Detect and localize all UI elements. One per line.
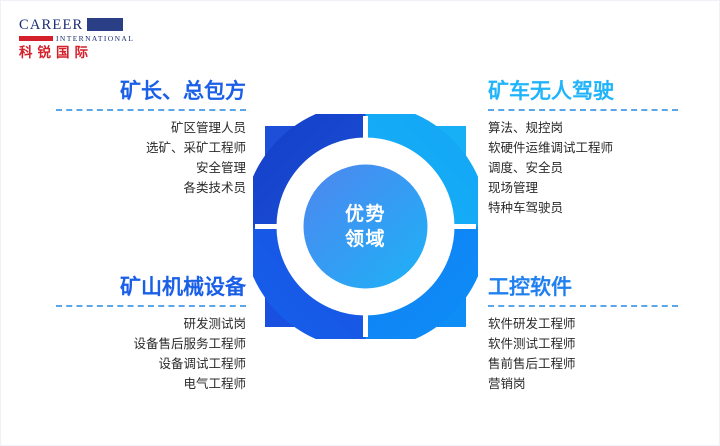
logo-top-row: CAREER bbox=[19, 18, 137, 33]
slide-canvas: CAREER INTERNATIONAL 科锐国际 bbox=[0, 0, 720, 446]
list-item: 特种车驾驶员 bbox=[488, 198, 678, 218]
list-item: 营销岗 bbox=[488, 374, 678, 394]
advantage-donut-chart: 优势 领域 bbox=[253, 114, 478, 339]
logo-career-text: CAREER bbox=[19, 18, 83, 33]
list-item: 现场管理 bbox=[488, 178, 678, 198]
category-items-top-right: 算法、规控岗 软硬件运维调试工程师 调度、安全员 现场管理 特种车驾驶员 bbox=[488, 118, 678, 218]
category-block-top-left: 矿长、总包方 矿区管理人员 选矿、采矿工程师 安全管理 各类技术员 bbox=[56, 79, 246, 198]
category-heading-bottom-right: 工控软件 bbox=[488, 275, 678, 301]
category-items-bottom-left: 研发测试岗 设备售后服务工程师 设备调试工程师 电气工程师 bbox=[56, 314, 246, 394]
donut-center-disc bbox=[304, 165, 428, 289]
list-item: 软件测试工程师 bbox=[488, 334, 678, 354]
list-item: 软硬件运维调试工程师 bbox=[488, 138, 678, 158]
list-item: 调度、安全员 bbox=[488, 158, 678, 178]
list-item: 算法、规控岗 bbox=[488, 118, 678, 138]
list-item: 软件研发工程师 bbox=[488, 314, 678, 334]
category-items-top-left: 矿区管理人员 选矿、采矿工程师 安全管理 各类技术员 bbox=[56, 118, 246, 198]
category-divider-top-left bbox=[56, 109, 246, 111]
logo-chinese-name: 科锐国际 bbox=[19, 45, 137, 60]
category-heading-top-right: 矿车无人驾驶 bbox=[488, 79, 678, 105]
list-item: 电气工程师 bbox=[56, 374, 246, 394]
list-item: 安全管理 bbox=[56, 158, 246, 178]
logo-blue-block-icon bbox=[87, 18, 123, 31]
logo-red-bar-icon bbox=[19, 36, 53, 41]
list-item: 选矿、采矿工程师 bbox=[56, 138, 246, 158]
list-item: 各类技术员 bbox=[56, 178, 246, 198]
logo-international-text: INTERNATIONAL bbox=[56, 34, 134, 43]
list-item: 研发测试岗 bbox=[56, 314, 246, 334]
list-item: 设备调试工程师 bbox=[56, 354, 246, 374]
category-heading-top-left: 矿长、总包方 bbox=[56, 79, 246, 105]
list-item: 售前售后工程师 bbox=[488, 354, 678, 374]
category-divider-top-right bbox=[488, 109, 678, 111]
category-block-bottom-right: 工控软件 软件研发工程师 软件测试工程师 售前售后工程师 营销岗 bbox=[488, 275, 678, 394]
list-item: 设备售后服务工程师 bbox=[56, 334, 246, 354]
category-block-top-right: 矿车无人驾驶 算法、规控岗 软硬件运维调试工程师 调度、安全员 现场管理 特种车… bbox=[488, 79, 678, 218]
category-items-bottom-right: 软件研发工程师 软件测试工程师 售前售后工程师 营销岗 bbox=[488, 314, 678, 394]
category-divider-bottom-left bbox=[56, 305, 246, 307]
category-divider-bottom-right bbox=[488, 305, 678, 307]
logo-middle-row: INTERNATIONAL bbox=[19, 34, 137, 43]
list-item: 矿区管理人员 bbox=[56, 118, 246, 138]
company-logo: CAREER INTERNATIONAL 科锐国际 bbox=[19, 18, 137, 58]
category-block-bottom-left: 矿山机械设备 研发测试岗 设备售后服务工程师 设备调试工程师 电气工程师 bbox=[56, 275, 246, 394]
category-heading-bottom-left: 矿山机械设备 bbox=[56, 275, 246, 301]
